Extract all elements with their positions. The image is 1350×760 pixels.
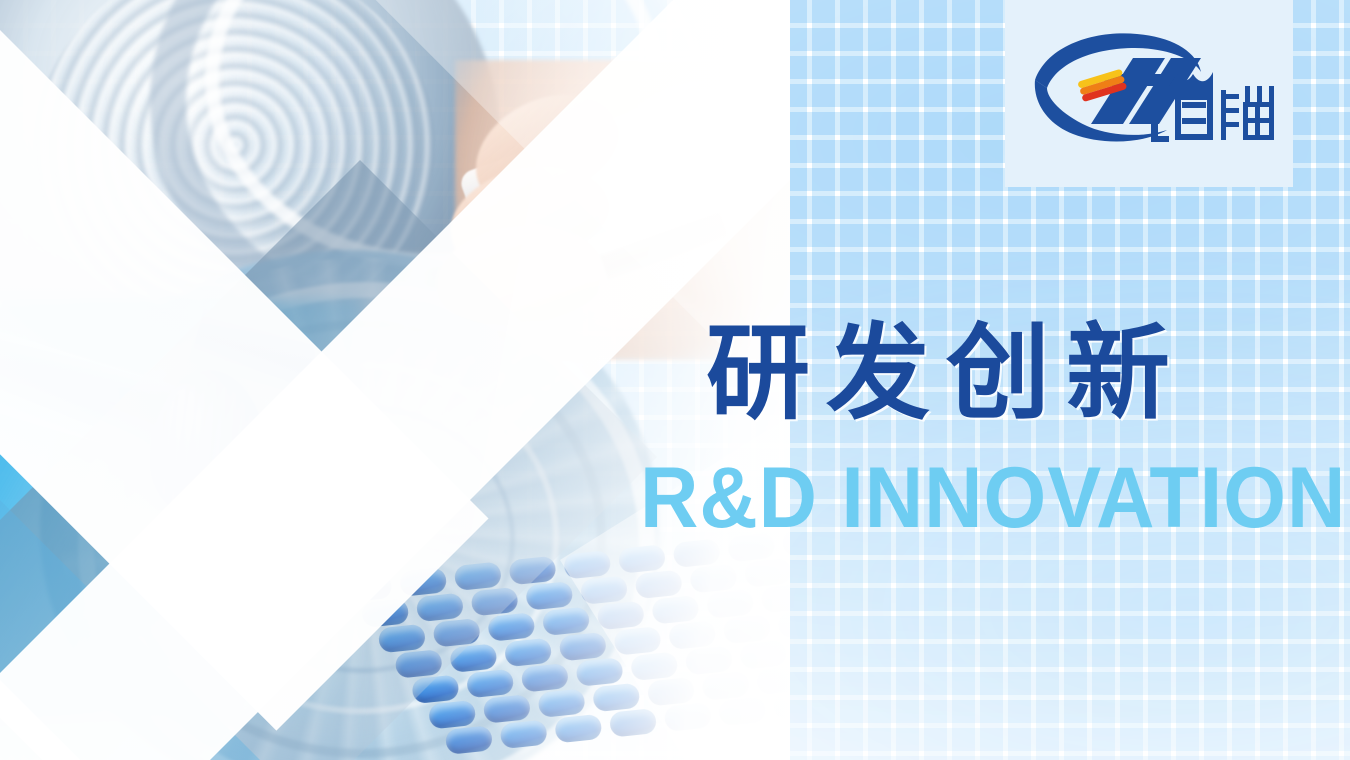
rd-innovation-banner: R&D INNOVATION 研发创新 [0,0,1350,760]
photo-collage [0,0,790,760]
hengrui-logo[interactable] [1025,28,1275,156]
page-title-chinese: 研发创新 [706,322,1186,426]
page-subtitle-english: R&D INNOVATION [640,455,1346,541]
